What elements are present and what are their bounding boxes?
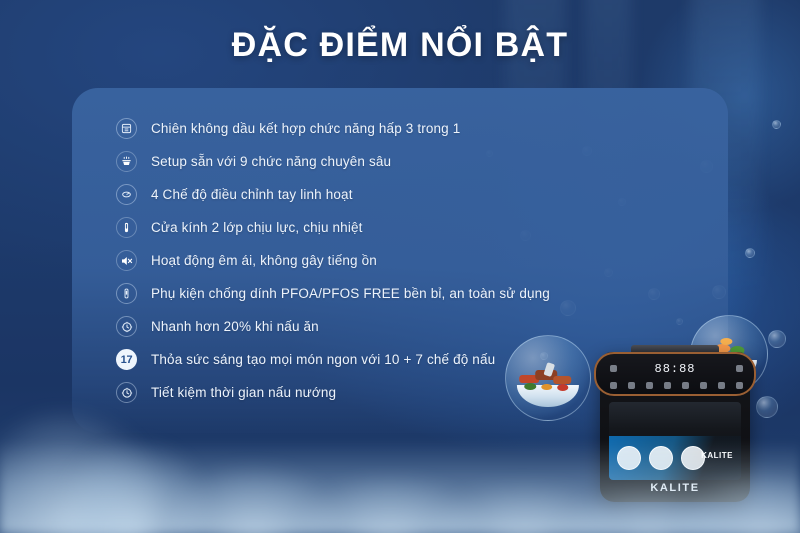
- list-item: 4 Chế độ điều chỉnh tay linh hoạt: [116, 178, 716, 211]
- door-graphic: KALITE: [609, 436, 741, 480]
- door-badge: [649, 446, 673, 470]
- panel-button[interactable]: [700, 382, 707, 389]
- steam-pot-icon: [116, 151, 137, 172]
- control-panel[interactable]: 88:88: [594, 352, 756, 396]
- knob-dial-icon: [116, 184, 137, 205]
- air-fryer-icon: [116, 118, 137, 139]
- panel-button[interactable]: [646, 382, 653, 389]
- panel-button[interactable]: [628, 382, 635, 389]
- panel-button[interactable]: [736, 382, 743, 389]
- list-item-label: 4 Chế độ điều chỉnh tay linh hoạt: [151, 187, 353, 202]
- food-bubble-meat: [505, 335, 591, 421]
- food-bit: [553, 376, 571, 384]
- door-badge: [617, 446, 641, 470]
- panel-button[interactable]: [718, 382, 725, 389]
- seventeen-badge: 17: [116, 349, 137, 370]
- food-pile-meat: [515, 356, 581, 395]
- list-item-label: Nhanh hơn 20% khi nấu ăn: [151, 319, 319, 334]
- food-bit: [721, 338, 733, 345]
- panel-button[interactable]: [736, 365, 743, 372]
- panel-button[interactable]: [610, 365, 617, 372]
- glass-door-icon: [116, 217, 137, 238]
- bubble: [772, 120, 781, 129]
- list-item-label: Phụ kiện chống dính PFOA/PFOS FREE bền b…: [151, 286, 550, 301]
- timer-display: 88:88: [654, 362, 695, 376]
- appliance-brand-logo: KALITE: [600, 482, 750, 494]
- list-item: Setup sẵn với 9 chức năng chuyên sâu: [116, 145, 716, 178]
- list-item-label: Tiết kiệm thời gian nấu nướng: [151, 385, 336, 400]
- list-item-label: Hoạt động êm ái, không gây tiếng ồn: [151, 253, 377, 268]
- panel-button[interactable]: [664, 382, 671, 389]
- list-item: Cửa kính 2 lớp chịu lực, chịu nhiệt: [116, 211, 716, 244]
- list-item-label: Cửa kính 2 lớp chịu lực, chịu nhiệt: [151, 220, 363, 235]
- air-fryer-appliance: 88:88 KALITE KALITE: [600, 352, 750, 502]
- list-item: Nhanh hơn 20% khi nấu ăn: [116, 310, 716, 343]
- list-item: Chiên không dầu kết hợp chức năng hấp 3 …: [116, 112, 716, 145]
- bubble: [756, 396, 778, 418]
- speed-clock-icon: [116, 316, 137, 337]
- food-bit: [524, 383, 536, 390]
- list-item-label: Thỏa sức sáng tạo mọi món ngon với 10 + …: [151, 352, 495, 367]
- appliance-glass-door[interactable]: KALITE: [609, 402, 741, 480]
- panel-button[interactable]: [682, 382, 689, 389]
- bubble: [745, 248, 755, 258]
- timer-clock-icon: [116, 382, 137, 403]
- list-item-label: Setup sẵn với 9 chức năng chuyên sâu: [151, 154, 391, 169]
- door-brand-logo: KALITE: [701, 451, 733, 460]
- non-stick-pan-icon: [116, 283, 137, 304]
- bubble: [768, 330, 786, 348]
- food-bit: [541, 384, 551, 390]
- panel-button[interactable]: [610, 382, 617, 389]
- mute-speaker-icon: [116, 250, 137, 271]
- page-title: ĐẶC ĐIỂM NỔI BẬT: [0, 26, 800, 65]
- list-item: Phụ kiện chống dính PFOA/PFOS FREE bền b…: [116, 277, 716, 310]
- food-bit: [557, 384, 568, 391]
- list-item: Hoạt động êm ái, không gây tiếng ồn: [116, 244, 716, 277]
- list-item-label: Chiên không dầu kết hợp chức năng hấp 3 …: [151, 121, 460, 136]
